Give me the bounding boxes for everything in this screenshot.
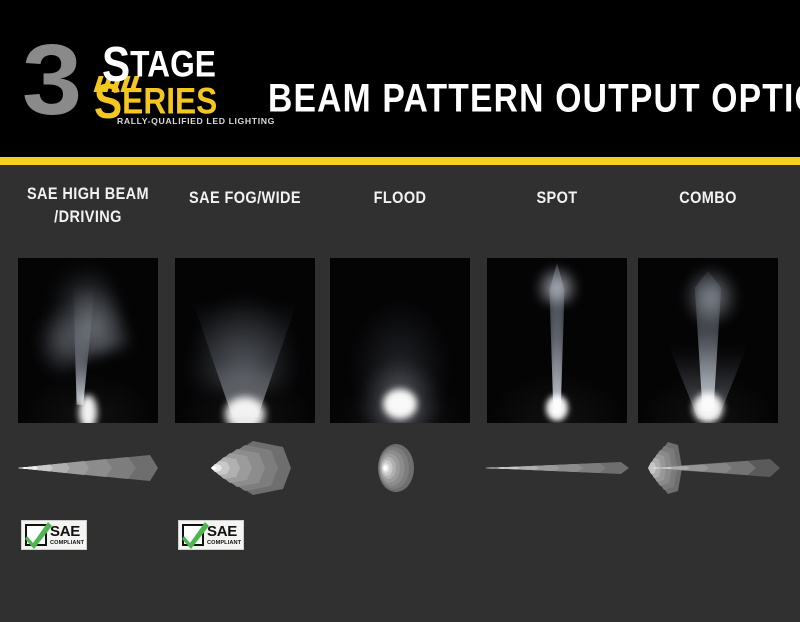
badge-title: SAE: [207, 524, 241, 539]
badge-text-block: SAE COMPLIANT: [50, 524, 84, 547]
beam-column-combo: COMBO: [638, 165, 778, 622]
page-title: BEAM PATTERN OUTPUT OPTIONS: [268, 76, 800, 122]
beam-column-label: SAE FOG/WIDE: [167, 187, 323, 210]
beam-column-sae-high-beam: SAE HIGH BEAM /DRIVING: [18, 165, 158, 622]
photo-beam-hotspot: [693, 393, 723, 423]
badge-subtitle: COMPLIANT: [207, 539, 241, 547]
sae-compliant-badge: SAE COMPLIANT: [178, 520, 244, 550]
beam-column-label: SAE HIGH BEAM /DRIVING: [10, 183, 166, 229]
beam-diagram-svg: [479, 437, 635, 499]
checkmark-icon: [25, 524, 47, 546]
beam-diagram-svg: [167, 437, 323, 499]
beam-diagram-svg: [630, 437, 786, 499]
badge-subtitle: COMPLIANT: [50, 539, 84, 547]
beam-column-flood: FLOOD: [330, 165, 470, 622]
beam-diagram-sae-high-beam: [10, 437, 166, 499]
logo-tagline: RALLY-QUALIFIED LED LIGHTING: [117, 116, 275, 126]
beam-diagram-flood: [322, 437, 478, 499]
beam-column-label-line1: SAE HIGH BEAM: [10, 183, 166, 206]
header-bar: 3 STAGE SERIES RALLY-QUALIFIED LED LIGHT…: [0, 0, 800, 157]
beam-column-spot: SPOT: [487, 165, 627, 622]
beam-column-label-line1: SPOT: [479, 187, 635, 210]
beam-photo-flood: [330, 258, 470, 423]
beam-columns-grid: SAE HIGH BEAM /DRIVING: [0, 165, 800, 622]
logo-word-series: SERIES: [94, 82, 217, 120]
beam-diagram-svg: [10, 437, 166, 499]
sae-compliant-badge: SAE COMPLIANT: [21, 520, 87, 550]
logo-numeral: 3: [22, 30, 77, 130]
beam-photo-sae-high-beam: [18, 258, 158, 423]
beam-photo-sae-fog-wide: [175, 258, 315, 423]
beam-column-label: COMBO: [630, 187, 786, 210]
beam-column-label: SPOT: [479, 187, 635, 210]
beam-diagram-svg: [322, 437, 478, 499]
beam-column-label-line2: /DRIVING: [10, 206, 166, 229]
photo-beam-hotspot: [546, 395, 568, 421]
beam-diagram-combo: [630, 437, 786, 499]
beam-photo-spot: [487, 258, 627, 423]
beam-column-label-line1: SAE FOG/WIDE: [167, 187, 323, 210]
beam-column-sae-fog-wide: SAE FOG/WIDE: [175, 165, 315, 622]
badge-title: SAE: [50, 524, 84, 539]
beam-pattern-chart: 3 STAGE SERIES RALLY-QUALIFIED LED LIGHT…: [0, 0, 800, 622]
beam-diagram-spot: [479, 437, 635, 499]
beam-diagram-sae-fog-wide: [167, 437, 323, 499]
beam-column-label: FLOOD: [322, 187, 478, 210]
beam-column-label-line1: FLOOD: [322, 187, 478, 210]
brand-logo: 3 STAGE SERIES RALLY-QUALIFIED LED LIGHT…: [22, 32, 252, 132]
accent-divider: [0, 157, 800, 165]
checkmark-icon: [182, 524, 204, 546]
beam-photo-combo: [638, 258, 778, 423]
photo-beam-hotspot: [383, 389, 417, 419]
badge-text-block: SAE COMPLIANT: [207, 524, 241, 547]
beam-column-label-line1: COMBO: [630, 187, 786, 210]
photo-beam-hotspot: [225, 397, 265, 423]
photo-beam-hotspot: [79, 395, 97, 423]
